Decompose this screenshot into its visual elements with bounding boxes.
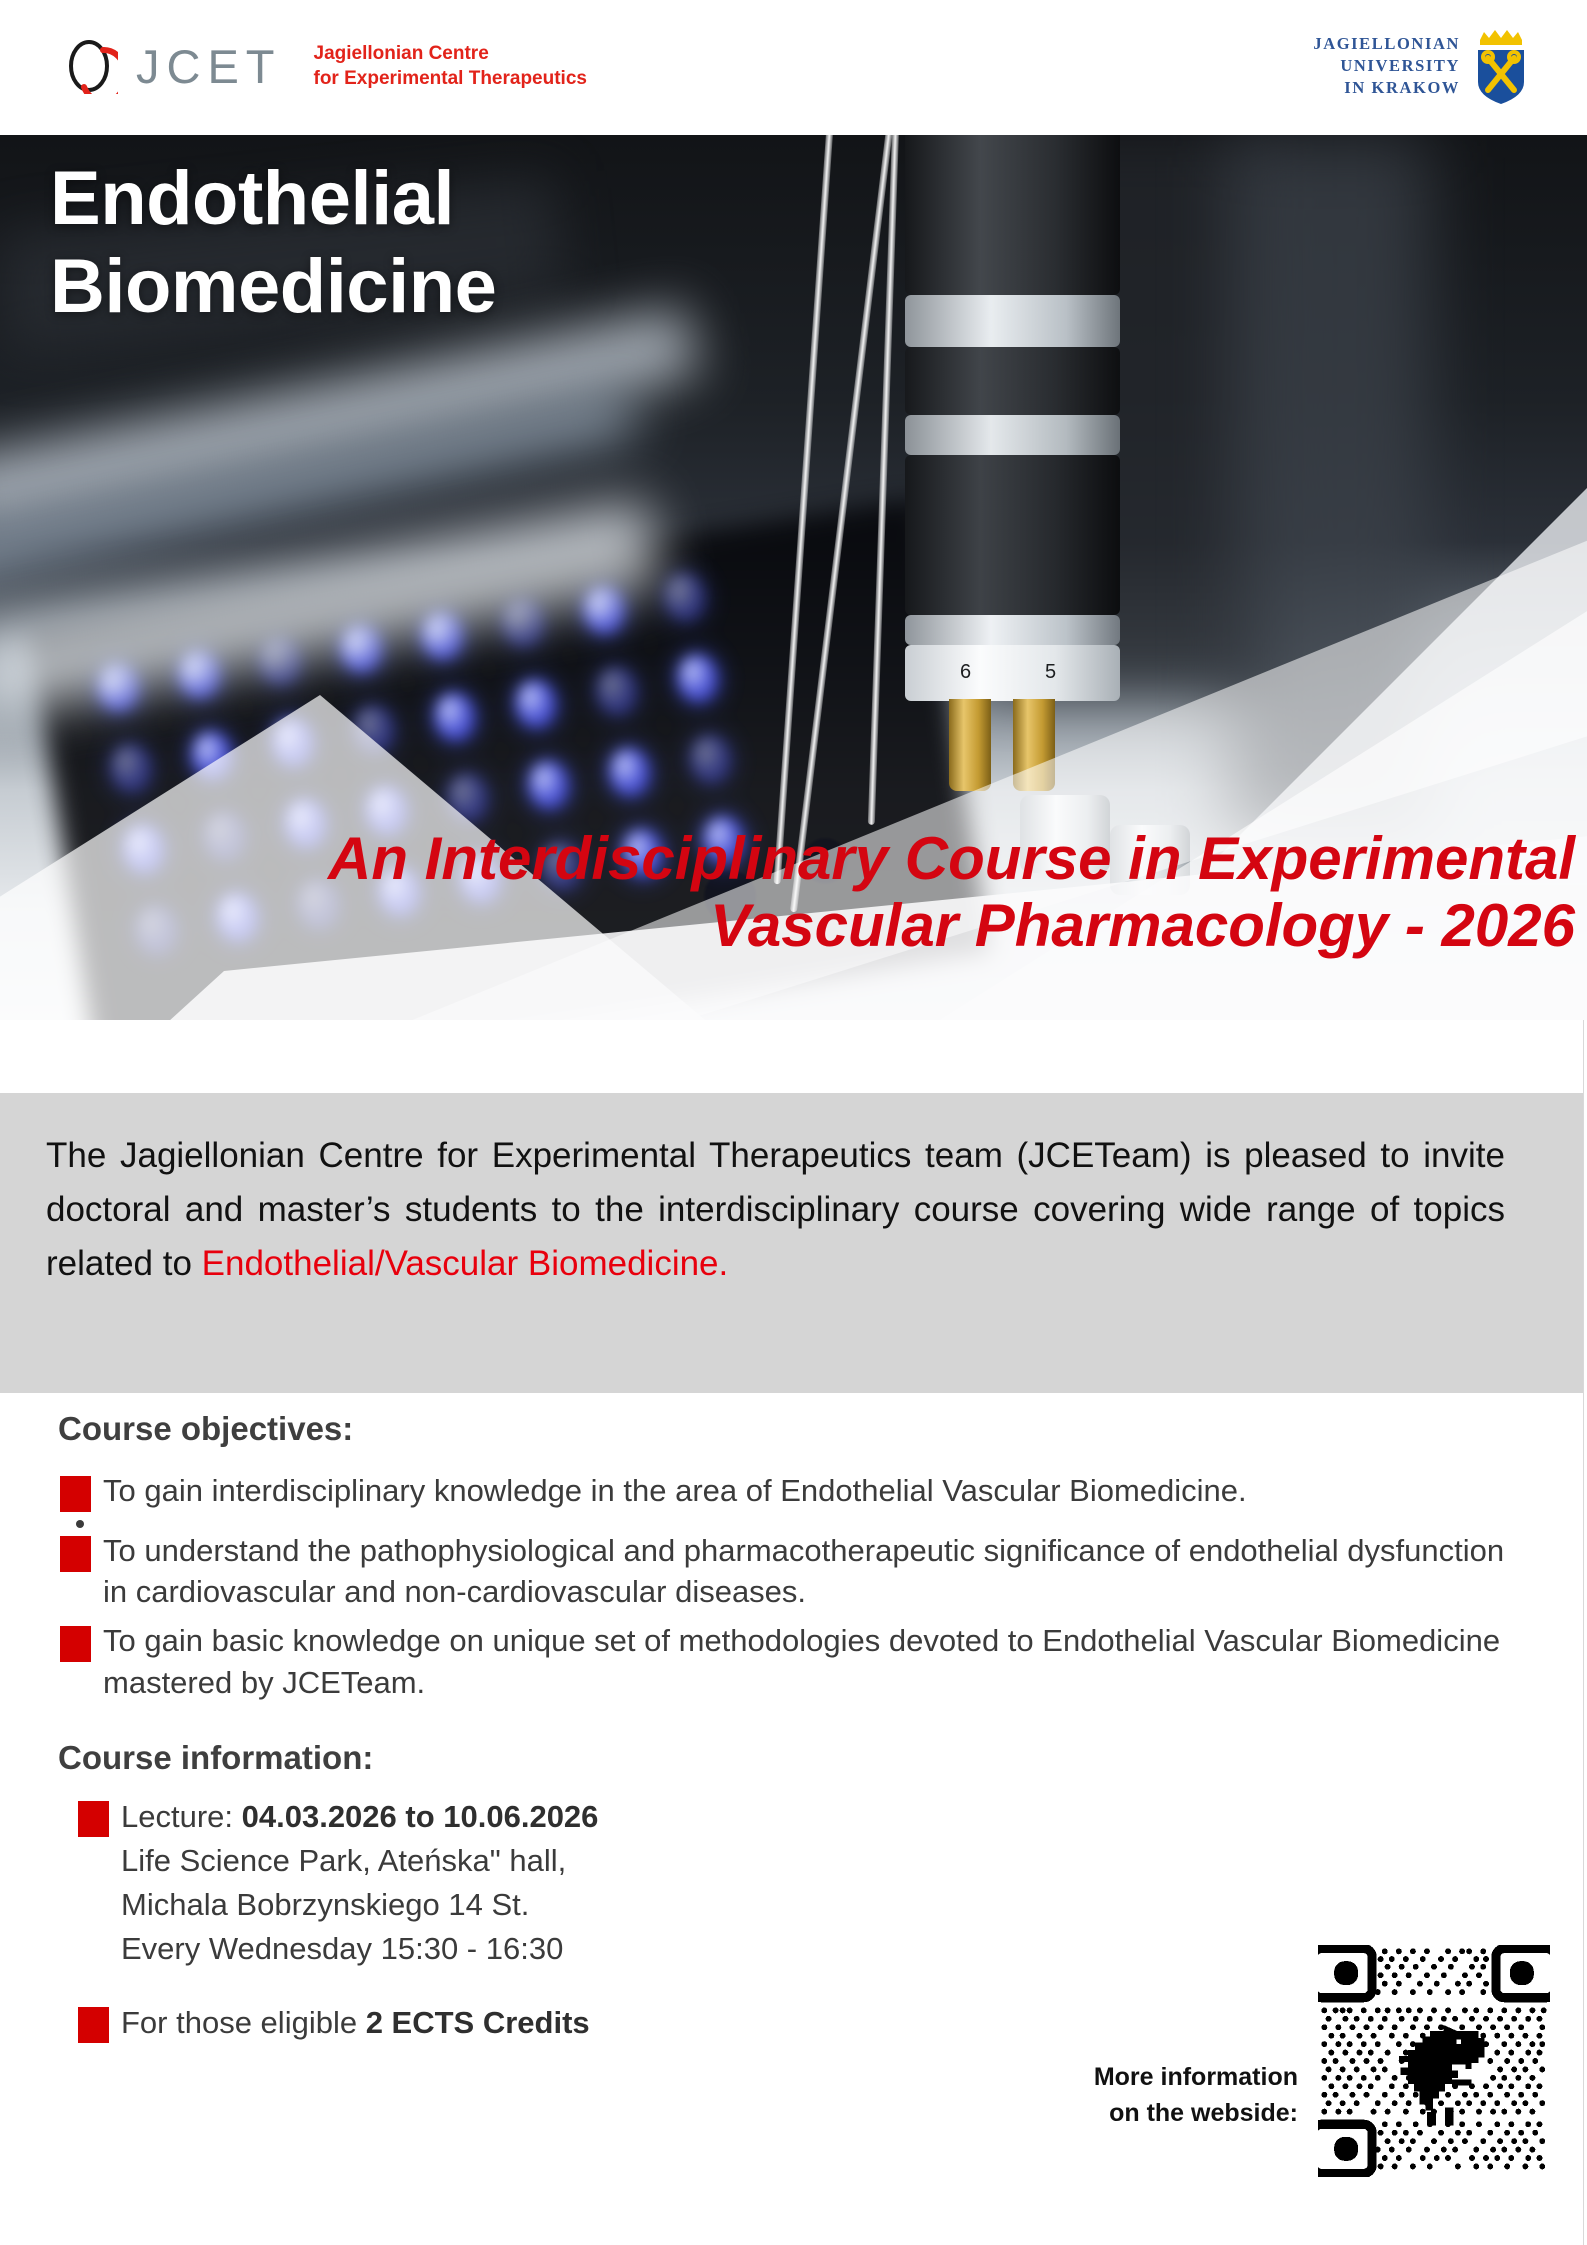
qr-code-icon[interactable] bbox=[1318, 1945, 1550, 2177]
red-square-bullet-icon bbox=[60, 1536, 91, 1572]
objective-text-2: To understand the pathophysiological and… bbox=[103, 1530, 1513, 1612]
intro-band: The Jagiellonian Centre for Experimental… bbox=[0, 1093, 1583, 1393]
red-square-bullet-icon bbox=[78, 2007, 109, 2043]
objective-text-3: To gain basic knowledge on unique set of… bbox=[103, 1620, 1513, 1702]
intro-text-accent: Endothelial/Vascular Biomedicine. bbox=[202, 1244, 729, 1283]
qr-caption-line-2: on the webside: bbox=[1028, 2096, 1298, 2132]
hero-banner: 6 5 Endothelial Biomedicine An Interdisc… bbox=[0, 135, 1587, 1020]
qr-section: More information on the webside: bbox=[1030, 1945, 1550, 2195]
intro-paragraph: The Jagiellonian Centre for Experimental… bbox=[46, 1129, 1505, 1291]
red-square-bullet-icon bbox=[60, 1626, 91, 1662]
red-square-bullet-icon bbox=[78, 1801, 109, 1837]
poster-subtitle: An Interdisciplinary Course in Experimen… bbox=[28, 825, 1575, 959]
objective-item-1: To gain interdisciplinary knowledge in t… bbox=[60, 1470, 1587, 1512]
red-square-bullet-icon bbox=[60, 1476, 91, 1512]
objective-text-1: To gain interdisciplinary knowledge in t… bbox=[103, 1470, 1247, 1511]
university-line-1: JAGIELLONIAN bbox=[1313, 33, 1460, 55]
qr-caption: More information on the webside: bbox=[1028, 2060, 1298, 2131]
pipetting-head-graphic: 6 5 bbox=[905, 135, 1120, 755]
lecture-label: Lecture: bbox=[121, 1799, 242, 1834]
university-name: JAGIELLONIAN UNIVERSITY IN KRAKOW bbox=[1313, 33, 1460, 99]
poster-header: JCET Jagiellonian Centre for Experimenta… bbox=[0, 0, 1587, 135]
ects-value: 2 ECTS Credits bbox=[366, 2005, 590, 2040]
poster-root: JCET Jagiellonian Centre for Experimenta… bbox=[0, 0, 1587, 2245]
qr-code[interactable] bbox=[1318, 1945, 1550, 2177]
jcet-swirl-icon bbox=[62, 38, 118, 94]
jcet-fullname-line2: for Experimental Therapeutics bbox=[314, 66, 587, 91]
objectives-heading: Course objectives: bbox=[58, 1410, 1587, 1448]
ects-label: For those eligible bbox=[121, 2005, 366, 2040]
lecture-dates: 04.03.2026 to 10.06.2026 bbox=[242, 1799, 599, 1834]
venue-line-1: Life Science Park, Ateńska" hall, bbox=[121, 1839, 598, 1883]
lecture-info-lines: Lecture: 04.03.2026 to 10.06.2026 Life S… bbox=[121, 1795, 598, 1971]
jcet-fullname-line1: Jagiellonian Centre bbox=[314, 41, 587, 66]
objective-item-3: To gain basic knowledge on unique set of… bbox=[60, 1620, 1587, 1702]
ects-line: For those eligible 2 ECTS Credits bbox=[121, 2001, 590, 2045]
jcet-fullname: Jagiellonian Centre for Experimental The… bbox=[314, 41, 587, 91]
university-line-3: IN KRAKOW bbox=[1313, 77, 1460, 99]
venue-line-3: Every Wednesday 15:30 - 16:30 bbox=[121, 1927, 598, 1971]
jcet-logo: JCET Jagiellonian Centre for Experimenta… bbox=[62, 38, 587, 94]
lecture-dates-line: Lecture: 04.03.2026 to 10.06.2026 bbox=[121, 1795, 598, 1839]
jcet-acronym: JCET bbox=[136, 43, 282, 90]
information-heading: Course information: bbox=[58, 1739, 1587, 1777]
objective-item-2: To understand the pathophysiological and… bbox=[60, 1530, 1587, 1612]
poster-title: Endothelial Biomedicine bbox=[50, 155, 496, 331]
stray-mark bbox=[76, 1520, 84, 1528]
university-crest-icon bbox=[1472, 26, 1530, 106]
qr-caption-line-1: More information bbox=[1028, 2060, 1298, 2096]
university-line-2: UNIVERSITY bbox=[1313, 55, 1460, 77]
jagiellonian-university-logo: JAGIELLONIAN UNIVERSITY IN KRAKOW bbox=[1313, 26, 1530, 106]
venue-line-2: Michala Bobrzynskiego 14 St. bbox=[121, 1883, 598, 1927]
